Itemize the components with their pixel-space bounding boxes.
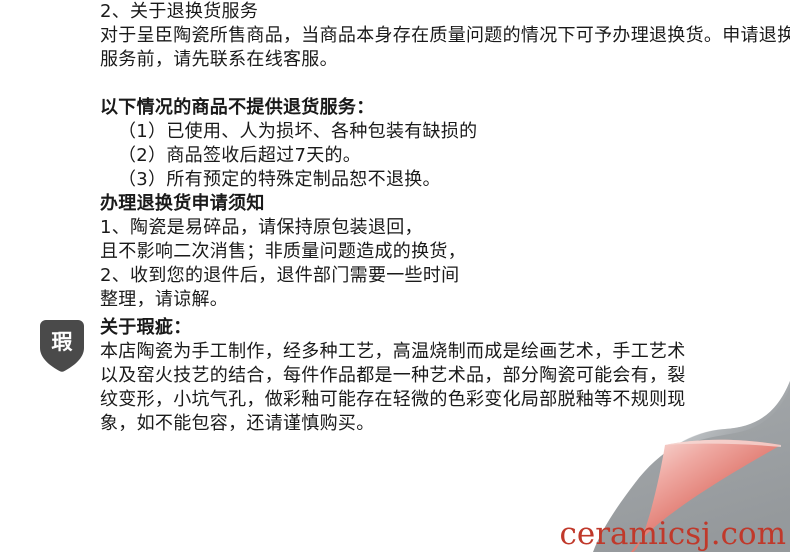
flaw-text-block: 关于瑕疵： 本店陶瓷为手工制作，经多种工艺，高温烧制而成是绘画艺术，手工艺术 以… [100, 316, 686, 436]
apply-line-2: 且不影响二次消售；非质量问题造成的换货， [100, 240, 790, 264]
apply-line-3: 2、收到您的退件后，退件部门需要一些时间 [100, 264, 790, 288]
shield-flaw-icon: 瑕 [40, 320, 84, 372]
section-no-return: 以下情况的商品不提供退货服务： （1）已使用、人为损坏、各种包装有缺损的 （2）… [0, 96, 790, 192]
section-returns: 2、关于退换货服务 对于呈臣陶瓷所售商品，当商品本身存在质量问题的情况下可予办理… [0, 0, 790, 72]
no-return-item-3: （3）所有预定的特殊定制品恕不退换。 [100, 168, 790, 192]
flaw-heading: 关于瑕疵： [100, 316, 686, 340]
flaw-line-1: 本店陶瓷为手工制作，经多种工艺，高温烧制而成是绘画艺术，手工艺术 [100, 340, 686, 364]
flaw-line-2: 以及窑火技艺的结合，每件作品都是一种艺术品，部分陶瓷可能会有，裂 [100, 364, 686, 388]
apply-heading: 办理退换货申请须知 [100, 192, 790, 216]
flaw-line-3: 纹变形，小坑气孔，做彩釉可能存在轻微的色彩变化局部脱釉等不规则现 [100, 388, 686, 412]
document-page: ceramicsj.com 2、关于退换货服务 对于呈臣陶瓷所售商品，当商品本身… [0, 0, 790, 552]
shield-glyph: 瑕 [40, 320, 84, 364]
section-apply: 办理退换货申请须知 1、陶瓷是易碎品，请保持原包装退回， 且不影响二次消售；非质… [0, 192, 790, 312]
flaw-line-4: 象，如不能包容，还请谨慎购买。 [100, 412, 686, 436]
apply-line-4: 整理，请谅解。 [100, 288, 790, 312]
no-return-item-2: （2）商品签收后超过7天的。 [100, 144, 790, 168]
apply-line-1: 1、陶瓷是易碎品，请保持原包装退回， [100, 216, 790, 240]
returns-heading: 2、关于退换货服务 [100, 0, 790, 24]
spacer [0, 72, 790, 96]
site-watermark: ceramicsj.com [560, 519, 786, 550]
document-body: 2、关于退换货服务 对于呈臣陶瓷所售商品，当商品本身存在质量问题的情况下可予办理… [0, 0, 790, 312]
no-return-heading: 以下情况的商品不提供退货服务： [100, 96, 790, 120]
returns-paragraph-line-1: 对于呈臣陶瓷所售商品，当商品本身存在质量问题的情况下可予办理退换货。申请退换货 [100, 24, 790, 48]
returns-paragraph-line-2: 服务前，请先联系在线客服。 [100, 48, 790, 72]
no-return-item-1: （1）已使用、人为损坏、各种包装有缺损的 [100, 120, 790, 144]
section-flaw: 瑕 关于瑕疵： 本店陶瓷为手工制作，经多种工艺，高温烧制而成是绘画艺术，手工艺术… [0, 316, 790, 436]
